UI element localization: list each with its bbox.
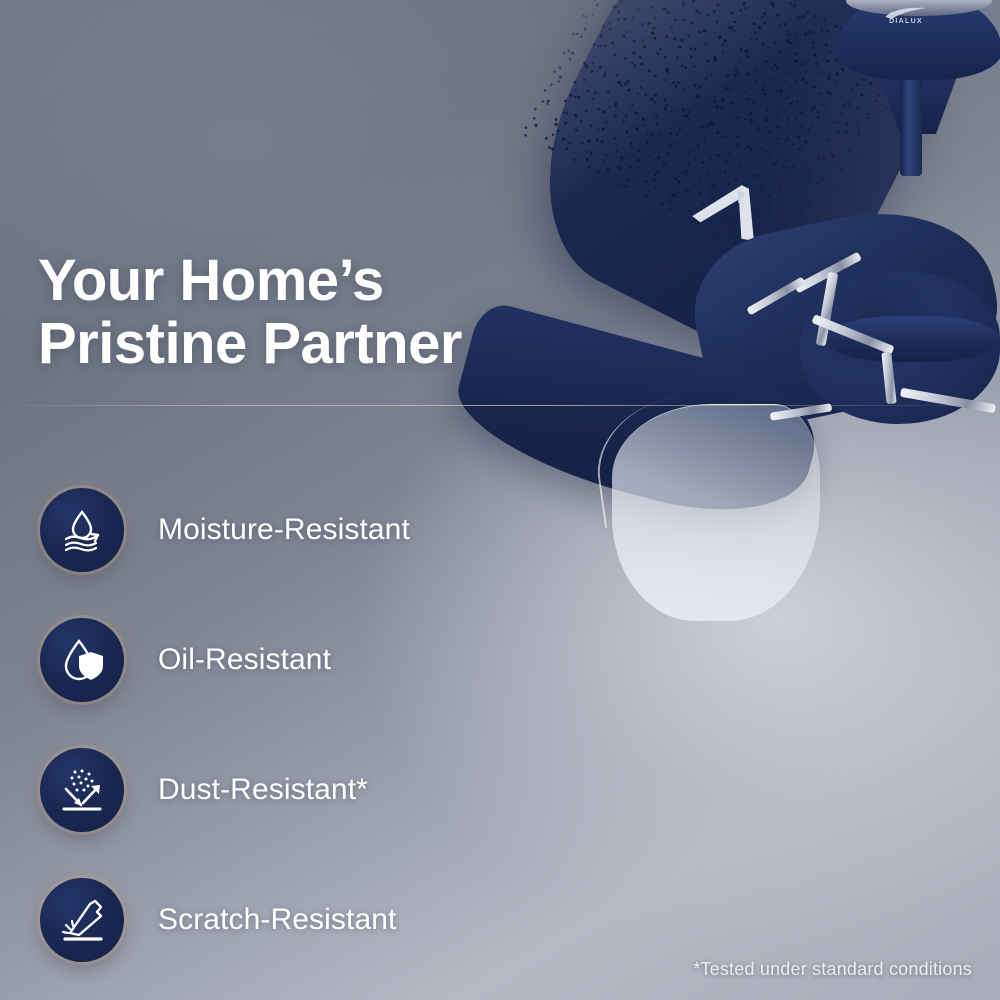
brand-logo: DIALUX (868, 6, 944, 32)
feature-label: Oil-Resistant (158, 643, 331, 677)
list-item: Dust-Resistant* (40, 746, 560, 834)
blade-scratch-surface-icon (57, 895, 107, 945)
headline-line-1: Your Home’s (38, 248, 384, 313)
feature-badge (40, 488, 124, 572)
list-item: Scratch-Resistant (40, 876, 560, 964)
page-title: Your Home’s Pristine Partner (38, 250, 658, 375)
headline-line-2: Pristine Partner (38, 313, 658, 376)
fan-motor-band (824, 316, 1000, 362)
feature-label: Scratch-Resistant (158, 903, 396, 937)
list-item: Moisture-Resistant (40, 486, 560, 574)
water-droplet-repel-icon (57, 505, 107, 555)
disclaimer-text: *Tested under standard conditions (693, 959, 972, 980)
oil-droplet-shield-icon (57, 635, 107, 685)
feature-badge (40, 748, 124, 832)
section-divider (0, 405, 985, 406)
advertisement-banner: DIALUX Your Home’s Pristine Partner Mois… (0, 0, 1000, 1000)
feature-badge (40, 878, 124, 962)
list-item: Oil-Resistant (40, 616, 560, 704)
feature-badge (40, 618, 124, 702)
feature-label: Dust-Resistant* (158, 773, 368, 807)
feature-list: Moisture-Resistant Oil-Resistant (40, 486, 560, 1000)
feature-label: Moisture-Resistant (158, 513, 410, 547)
brand-name: DIALUX (868, 18, 944, 25)
dust-particles-deflect-icon (57, 765, 107, 815)
